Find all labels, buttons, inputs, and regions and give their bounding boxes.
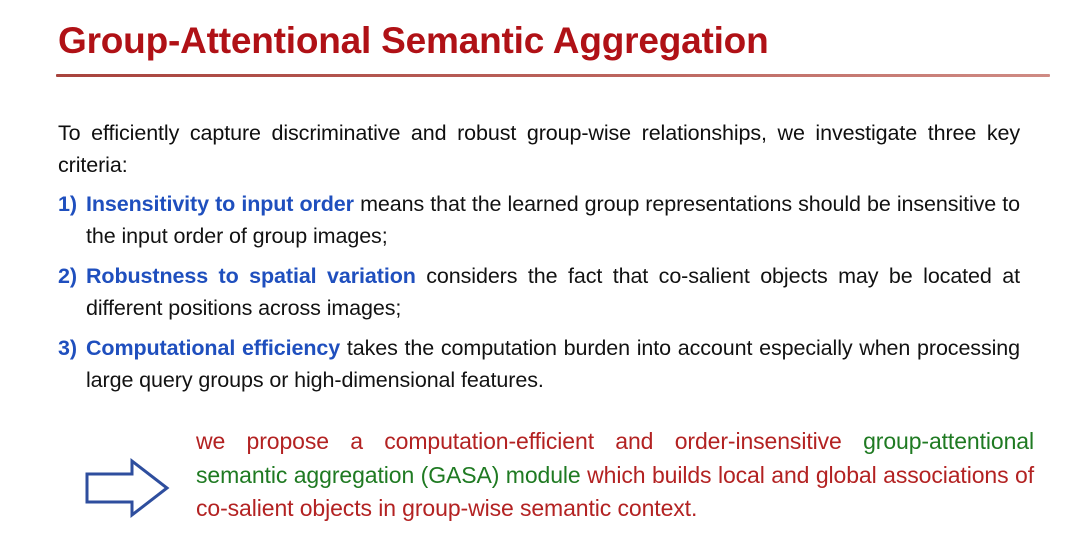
list-item: 1) Insensitivity to input order means th…	[58, 189, 1020, 252]
right-block-arrow-icon	[84, 457, 170, 519]
list-item-lead: Computational efficiency	[86, 336, 340, 360]
list-item: 3) Computational efficiency takes the co…	[58, 333, 1020, 396]
intro-paragraph: To efficiently capture discriminative an…	[58, 118, 1020, 181]
title-underline-rule	[56, 74, 1050, 77]
criteria-list: 1) Insensitivity to input order means th…	[58, 189, 1020, 396]
list-item-lead: Robustness to spatial variation	[86, 264, 416, 288]
title-block: Group-Attentional Semantic Aggregation	[0, 18, 1080, 64]
conclusion-text: we propose a computation-efficient and o…	[196, 425, 1034, 526]
body-content: To efficiently capture discriminative an…	[58, 118, 1020, 396]
list-item-lead: Insensitivity to input order	[86, 192, 354, 216]
conclusion-block: we propose a computation-efficient and o…	[84, 425, 1034, 526]
conclusion-segment-red-1: we propose a computation-efficient and o…	[196, 428, 863, 454]
list-item-marker: 1)	[58, 189, 77, 221]
list-item: 2) Robustness to spatial variation consi…	[58, 261, 1020, 324]
list-item-marker: 2)	[58, 261, 77, 293]
list-item-marker: 3)	[58, 333, 77, 365]
page-title: Group-Attentional Semantic Aggregation	[0, 18, 1080, 64]
arrow-container	[84, 425, 196, 519]
slide: Group-Attentional Semantic Aggregation T…	[0, 0, 1080, 559]
